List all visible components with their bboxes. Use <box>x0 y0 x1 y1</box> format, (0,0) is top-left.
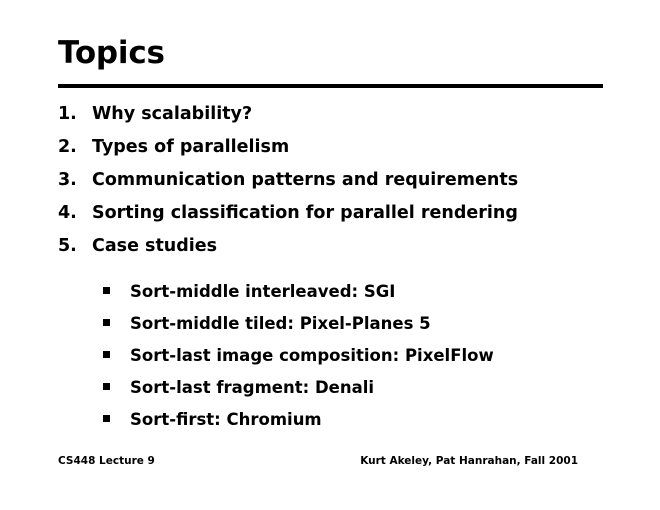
square-bullet-icon <box>103 386 130 393</box>
list-item: 3. Communication patterns and requiremen… <box>58 170 618 203</box>
list-item-number: 1. <box>58 104 92 124</box>
topic-list: 1. Why scalability? 2. Types of parallel… <box>58 104 618 269</box>
presentation-slide: Topics 1. Why scalability? 2. Types of p… <box>0 0 660 510</box>
list-item-label: Communication patterns and requirements <box>92 170 518 190</box>
case-studies-list: Sort-middle interleaved: SGI Sort-middle… <box>103 282 623 442</box>
list-item-number: 3. <box>58 170 92 190</box>
list-item: 4. Sorting classification for parallel r… <box>58 203 618 236</box>
page-title: Topics <box>58 36 165 70</box>
list-item-label: Sort-middle tiled: Pixel-Planes 5 <box>130 314 431 333</box>
square-bullet-icon <box>103 354 130 361</box>
list-item-label: Sort-first: Chromium <box>130 410 322 429</box>
footer-authors-label: Kurt Akeley, Pat Hanrahan, Fall 2001 <box>360 455 578 467</box>
list-item: 1. Why scalability? <box>58 104 618 137</box>
list-item: Sort-first: Chromium <box>103 410 623 442</box>
list-item-label: Types of parallelism <box>92 137 289 157</box>
list-item: 5. Case studies <box>58 236 618 269</box>
title-divider <box>58 84 603 88</box>
list-item: Sort-middle tiled: Pixel-Planes 5 <box>103 314 623 346</box>
list-item-label: Sort-last image composition: PixelFlow <box>130 346 494 365</box>
slide-footer: CS448 Lecture 9 Kurt Akeley, Pat Hanraha… <box>58 455 578 467</box>
footer-course-label: CS448 Lecture 9 <box>58 455 155 467</box>
list-item-label: Why scalability? <box>92 104 252 124</box>
list-item-number: 4. <box>58 203 92 223</box>
list-item: 2. Types of parallelism <box>58 137 618 170</box>
square-bullet-icon <box>103 322 130 329</box>
square-bullet-icon <box>103 418 130 425</box>
list-item-label: Sorting classification for parallel rend… <box>92 203 518 223</box>
square-bullet-icon <box>103 290 130 297</box>
list-item-number: 2. <box>58 137 92 157</box>
list-item-label: Sort-middle interleaved: SGI <box>130 282 395 301</box>
list-item-number: 5. <box>58 236 92 256</box>
list-item-label: Case studies <box>92 236 217 256</box>
list-item: Sort-middle interleaved: SGI <box>103 282 623 314</box>
list-item-label: Sort-last fragment: Denali <box>130 378 374 397</box>
list-item: Sort-last fragment: Denali <box>103 378 623 410</box>
list-item: Sort-last image composition: PixelFlow <box>103 346 623 378</box>
